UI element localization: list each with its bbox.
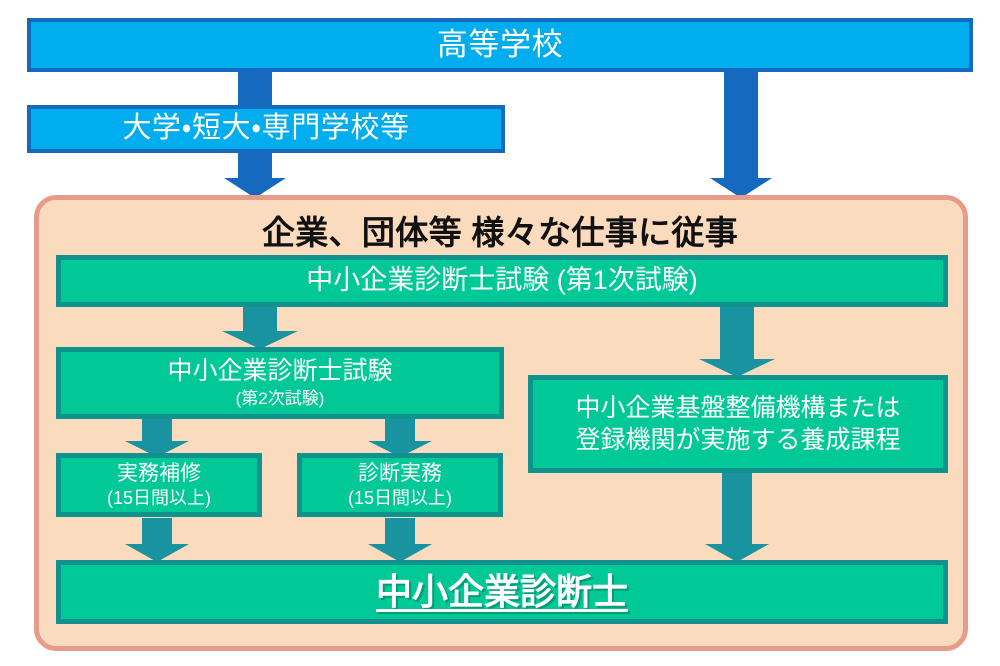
box-university-label: 大学・短大・専門学校等 xyxy=(122,112,409,145)
arrow-highschool-to-company xyxy=(710,72,772,198)
box-diagnostic-practice-sublabel: (15日間以上) xyxy=(348,488,452,509)
box-practical-training-label: 実務補修 xyxy=(117,462,201,486)
box-exam-second[interactable]: 中小企業診断士試験 (第2次試験) xyxy=(56,347,504,419)
box-training-course[interactable]: 中小企業基盤整備機構または 登録機関が実施する養成課程 xyxy=(528,375,948,473)
box-exam-first[interactable]: 中小企業診断士試験 (第1次試験) xyxy=(56,255,948,307)
box-diagnostic-practice[interactable]: 診断実務 (15日間以上) xyxy=(297,453,503,517)
box-final-certification-label: 中小企業診断士 xyxy=(376,571,628,612)
box-final-certification[interactable]: 中小企業診断士 xyxy=(56,560,948,624)
box-university[interactable]: 大学・短大・専門学校等 xyxy=(27,105,505,153)
arrow-university-to-company xyxy=(224,150,286,198)
box-practical-training-sublabel: (15日間以上) xyxy=(107,488,211,509)
box-training-course-line2: 登録機関が実施する養成課程 xyxy=(575,426,900,455)
box-exam-first-label: 中小企業診断士試験 (第1次試験) xyxy=(306,265,698,296)
flowchart-diagram: 高等学校 大学・短大・専門学校等 企業、団体等 様々な仕事に従事 xyxy=(0,0,1000,666)
panel-heading: 企業、団体等 様々な仕事に従事 xyxy=(0,206,1000,254)
box-exam-second-sublabel: (第2次試験) xyxy=(236,389,325,409)
box-high-school[interactable]: 高等学校 xyxy=(27,18,973,72)
box-high-school-label: 高等学校 xyxy=(437,27,563,63)
box-diagnostic-practice-label: 診断実務 xyxy=(358,462,442,486)
box-practical-training[interactable]: 実務補修 (15日間以上) xyxy=(56,453,262,517)
connector-highschool-to-university xyxy=(238,72,272,108)
box-training-course-line1: 中小企業基盤整備機構または xyxy=(575,394,900,423)
box-exam-second-label: 中小企業診断士試験 xyxy=(167,357,392,386)
